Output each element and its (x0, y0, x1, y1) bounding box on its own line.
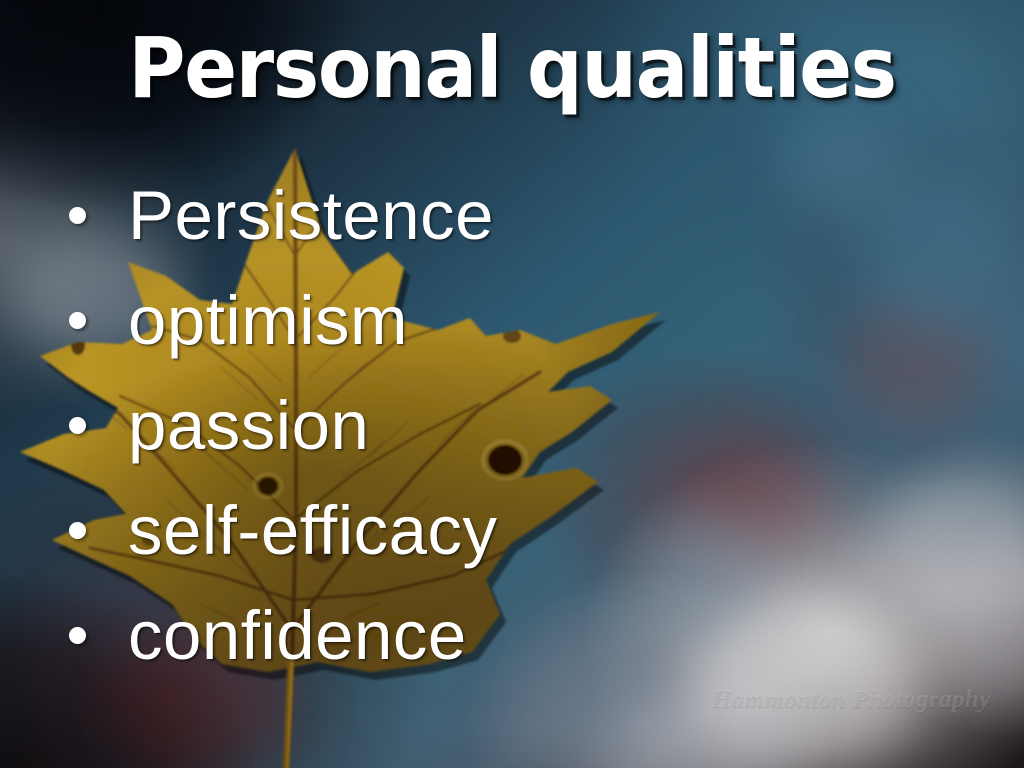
list-item-label: Persistence (128, 181, 494, 250)
bullet-dot-icon (69, 417, 86, 434)
bullet-dot-icon (69, 312, 86, 329)
list-item: optimism (60, 268, 960, 373)
page-title: Personal qualities (36, 26, 988, 112)
list-item: self-efficacy (60, 478, 960, 583)
list-item: confidence (60, 583, 960, 688)
list-item-label: self-efficacy (128, 496, 498, 565)
list-item-label: optimism (128, 286, 408, 355)
list-item: Persistence (60, 163, 960, 268)
list-item-label: confidence (128, 601, 467, 670)
list-item-label: passion (128, 391, 369, 460)
bullet-dot-icon (69, 207, 86, 224)
photo-watermark: Hammonton Photography (712, 686, 991, 714)
bullet-dot-icon (69, 522, 86, 539)
slide-canvas: Personal qualities Persistence optimism … (0, 0, 1024, 768)
qualities-list: Persistence optimism passion self-effica… (60, 163, 960, 688)
bullet-dot-icon (69, 627, 86, 644)
list-item: passion (60, 373, 960, 478)
